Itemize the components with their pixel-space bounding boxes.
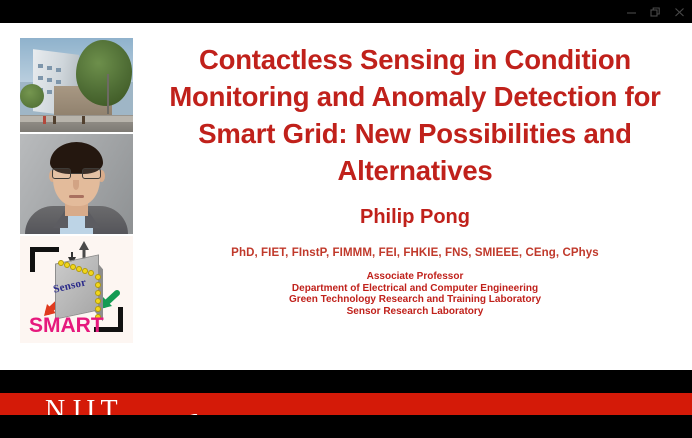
speaker-credentials: PhD, FIET, FInstP, FIMMM, FEI, FHKIE, FN… [148,247,682,259]
speaker-name: Philip Pong [148,206,682,229]
image-column: Sensor SMART [20,38,133,345]
chip-pin [95,298,101,304]
minimize-button[interactable] [620,3,642,21]
glasses-bridge [71,173,82,174]
slide-canvas: Sensor SMART Contactless Sensing in Cond… [0,23,692,370]
campus-building-photo [20,38,133,132]
eyeglasses-icon [52,168,101,179]
affiliation-line: Green Technology Research and Training L… [148,294,682,306]
smart-wordmark: SMART [29,314,104,338]
sidewalk [20,116,133,122]
affiliation-line: Sensor Research Laboratory [148,306,682,318]
chip-pin [95,274,101,280]
building-window [38,64,43,68]
speaker-affiliations: Associate Professor Department of Electr… [148,271,682,317]
chip-pin [88,270,94,276]
lens-right [82,168,101,179]
tree-canopy [20,84,44,108]
building-window [47,90,52,94]
building-window [56,80,61,84]
pedestrian [43,116,46,124]
tree-canopy [76,40,132,106]
building-window [47,78,52,82]
presentation-window: Sensor SMART Contactless Sensing in Cond… [0,0,692,438]
pedestrian [53,116,56,124]
affiliation-line: Associate Professor [148,271,682,283]
building-window [56,68,61,72]
chip-pin [95,306,101,312]
minimize-icon [626,7,637,18]
close-button[interactable] [668,3,690,21]
restore-button[interactable] [644,3,666,21]
chip-pin [95,290,101,296]
lens-left [52,168,71,179]
slide-text-block: Contactless Sensing in Condition Monitor… [148,41,682,317]
nose [73,180,79,190]
building-window [47,66,52,70]
building-window [38,76,43,80]
affiliation-line: Department of Electrical and Computer En… [148,283,682,295]
close-icon [674,7,685,18]
smart-lab-logo: Sensor SMART [20,236,133,343]
speaker-portrait-photo [20,134,133,234]
chip-pin [95,282,101,288]
bottom-letterbox [0,415,692,438]
lamp-post [107,74,109,114]
restore-icon [650,7,661,18]
mouth [69,195,84,198]
page-title: Contactless Sensing in Condition Monitor… [148,41,682,189]
pedestrian [82,116,85,124]
window-title-bar [0,0,692,23]
